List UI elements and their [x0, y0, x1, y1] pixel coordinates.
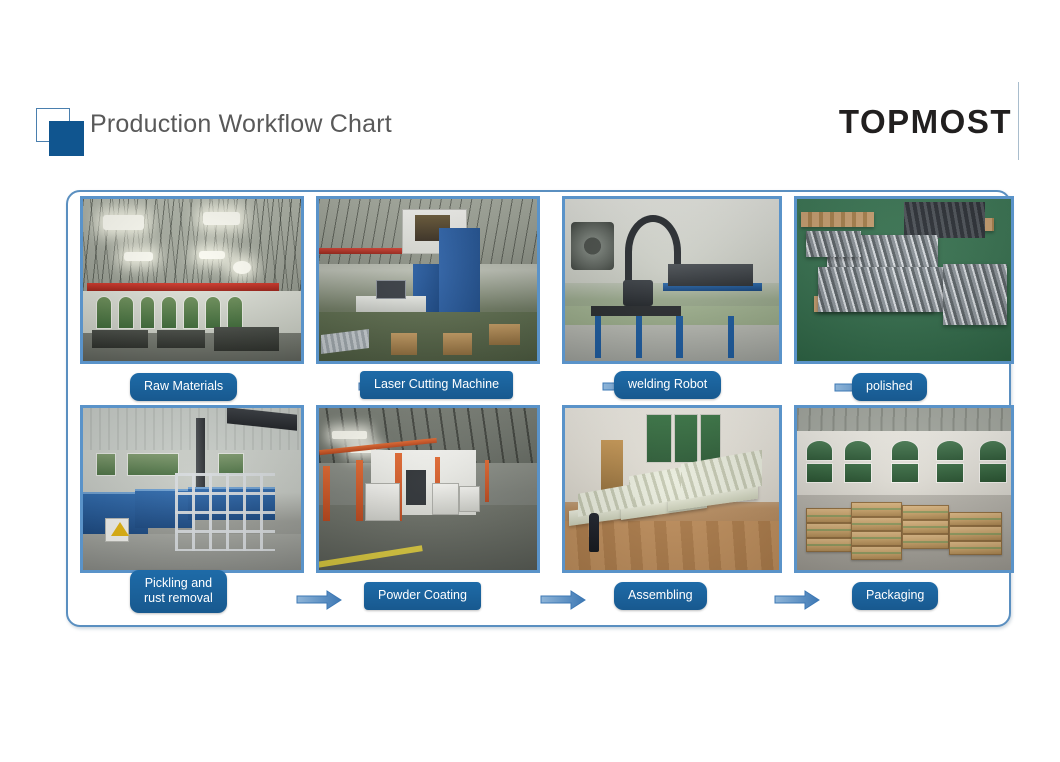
arrow-right-icon	[296, 589, 342, 611]
workflow-stage-polished[interactable]: polished	[794, 196, 1018, 401]
stage-label-raw-materials: Raw Materials	[130, 373, 237, 401]
stage-label-pickling-and-rust-removal: Pickling and rust removal	[130, 570, 227, 613]
stage-photo-frame	[562, 196, 782, 364]
photo-polished-metal-profiles-on-pallets	[797, 199, 1011, 361]
workflow-stage-welding-robot[interactable]: welding Robot	[562, 196, 786, 401]
stage-photo-frame	[316, 196, 540, 364]
photo-robotic-welding-cell	[565, 199, 779, 361]
workflow-stage-packaging[interactable]: Packaging	[794, 405, 1018, 610]
stage-photo-frame	[562, 405, 782, 573]
stage-photo-frame	[80, 405, 304, 573]
workflow-stage-laser-cutting-machine[interactable]: Laser Cutting Machine	[316, 196, 540, 401]
photo-powder-coating-line	[319, 408, 537, 570]
stage-photo-frame	[794, 405, 1014, 573]
workflow-panel: Raw Materials	[66, 190, 1011, 627]
stage-photo-frame	[316, 405, 540, 573]
workflow-row-2: Pickling and rust removal	[68, 405, 1013, 610]
workflow-stage-assembling[interactable]: Assembling	[562, 405, 786, 610]
page-header: Production Workflow Chart TOPMOST	[0, 0, 1060, 180]
workflow-stage-raw-materials[interactable]: Raw Materials	[80, 196, 304, 401]
photo-stacked-carton-boxes-warehouse	[797, 408, 1011, 570]
stage-label-powder-coating: Powder Coating	[364, 582, 481, 610]
stage-label-assembling: Assembling	[614, 582, 707, 610]
stage-label-polished: polished	[852, 373, 927, 401]
brand-logo: TOPMOST	[839, 101, 1012, 141]
stage-photo-frame	[80, 196, 304, 364]
connector-arrow-6	[774, 589, 820, 611]
square-logo-mark	[36, 108, 84, 156]
connector-arrow-4	[296, 589, 342, 611]
header-vertical-rule	[1018, 82, 1019, 160]
workflow-row-1: Raw Materials	[68, 196, 1013, 401]
brand-wordmark: TOPMOST	[839, 105, 1012, 138]
photo-pickling-tanks-and-rack	[83, 408, 301, 570]
photo-factory-workshop-with-red-gantry-crane	[83, 199, 301, 361]
workflow-stage-powder-coating[interactable]: Powder Coating	[316, 405, 540, 610]
workflow-stage-pickling-and-rust-removal[interactable]: Pickling and rust removal	[80, 405, 304, 610]
stage-label-laser-cutting-machine: Laser Cutting Machine	[360, 371, 513, 399]
connector-arrow-5	[540, 589, 586, 611]
logo-solid-square	[49, 121, 84, 156]
stage-label-welding-robot: welding Robot	[614, 371, 721, 399]
photo-blue-laser-cutting-machine	[319, 199, 537, 361]
arrow-right-icon	[774, 589, 820, 611]
stage-label-packaging: Packaging	[852, 582, 938, 610]
page-title: Production Workflow Chart	[90, 110, 392, 139]
stage-photo-frame	[794, 196, 1014, 364]
arrow-right-icon	[540, 589, 586, 611]
photo-assembly-workbenches	[565, 408, 779, 570]
